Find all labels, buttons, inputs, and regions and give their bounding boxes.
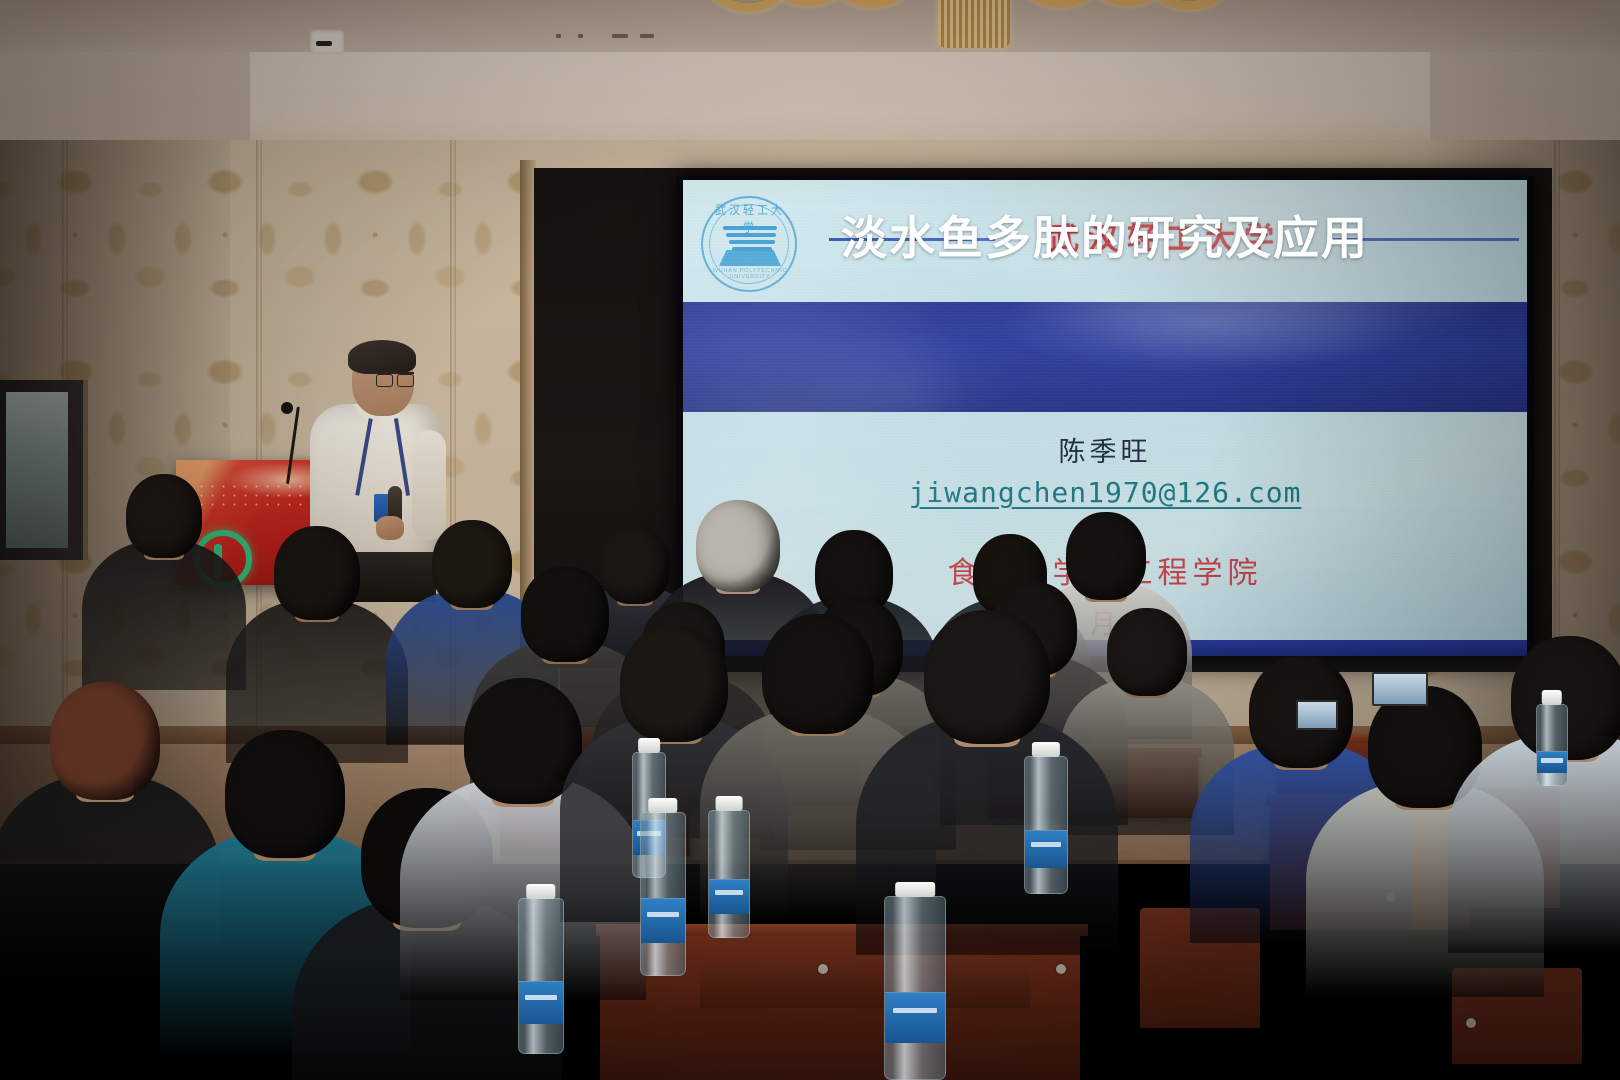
bottle-cap bbox=[1542, 690, 1562, 705]
bottle-cap bbox=[526, 884, 555, 899]
bottle-label bbox=[1537, 751, 1567, 773]
bottle-label bbox=[519, 981, 563, 1024]
bottle-body bbox=[1024, 756, 1068, 894]
slide-title-band bbox=[683, 302, 1527, 412]
ceiling-vent-icon bbox=[310, 30, 344, 54]
bottle-body bbox=[640, 812, 686, 976]
attendee-front-10 bbox=[1448, 636, 1620, 980]
attendee-head bbox=[274, 526, 360, 620]
chandelier bbox=[700, 0, 1240, 56]
bottle-body bbox=[708, 810, 750, 938]
chair-knob bbox=[818, 964, 828, 974]
bottle-label bbox=[641, 898, 685, 943]
ceiling-mark bbox=[640, 34, 654, 38]
bottle-cap bbox=[716, 796, 743, 811]
microphone-head-icon bbox=[281, 402, 293, 414]
bottle-body bbox=[1536, 704, 1568, 786]
attendee-mid-1 bbox=[82, 474, 246, 708]
water-bottle bbox=[1024, 742, 1068, 894]
bottle-label bbox=[709, 879, 749, 914]
bottle-cap bbox=[648, 798, 677, 813]
attendee-head bbox=[126, 474, 202, 558]
ceiling-mark bbox=[578, 34, 583, 38]
ceiling-mark bbox=[556, 34, 561, 38]
water-bottle bbox=[518, 884, 564, 1054]
tablet-screen bbox=[1372, 672, 1428, 706]
ceiling-mark bbox=[612, 34, 628, 38]
slide-title: 淡水鱼多肽的研究及应用 bbox=[683, 180, 1527, 290]
bottle-cap bbox=[638, 738, 660, 753]
water-bottle bbox=[708, 796, 750, 938]
attendee-head bbox=[696, 500, 780, 592]
bottle-cap bbox=[895, 882, 935, 897]
eyeglasses-icon bbox=[376, 372, 414, 384]
water-bottle bbox=[640, 798, 686, 976]
bottle-body bbox=[518, 898, 564, 1054]
attendee-torso bbox=[82, 540, 246, 690]
water-bottle bbox=[1536, 690, 1568, 786]
attendee-head bbox=[1107, 608, 1187, 696]
bottle-label bbox=[885, 992, 945, 1043]
bottle-label bbox=[1025, 830, 1067, 868]
tablet-screen bbox=[1296, 700, 1338, 730]
conference-photo-scene: 武汉轻工大学 1951 WUHAN POLYTECHNIC UNIVERSITY… bbox=[0, 0, 1620, 1080]
attendee-head bbox=[924, 610, 1050, 744]
attendee-torso bbox=[1448, 733, 1620, 953]
water-bottle bbox=[884, 882, 946, 1080]
bottle-cap bbox=[1032, 742, 1060, 757]
attendee-head bbox=[50, 682, 160, 800]
bottle-body bbox=[884, 896, 946, 1080]
